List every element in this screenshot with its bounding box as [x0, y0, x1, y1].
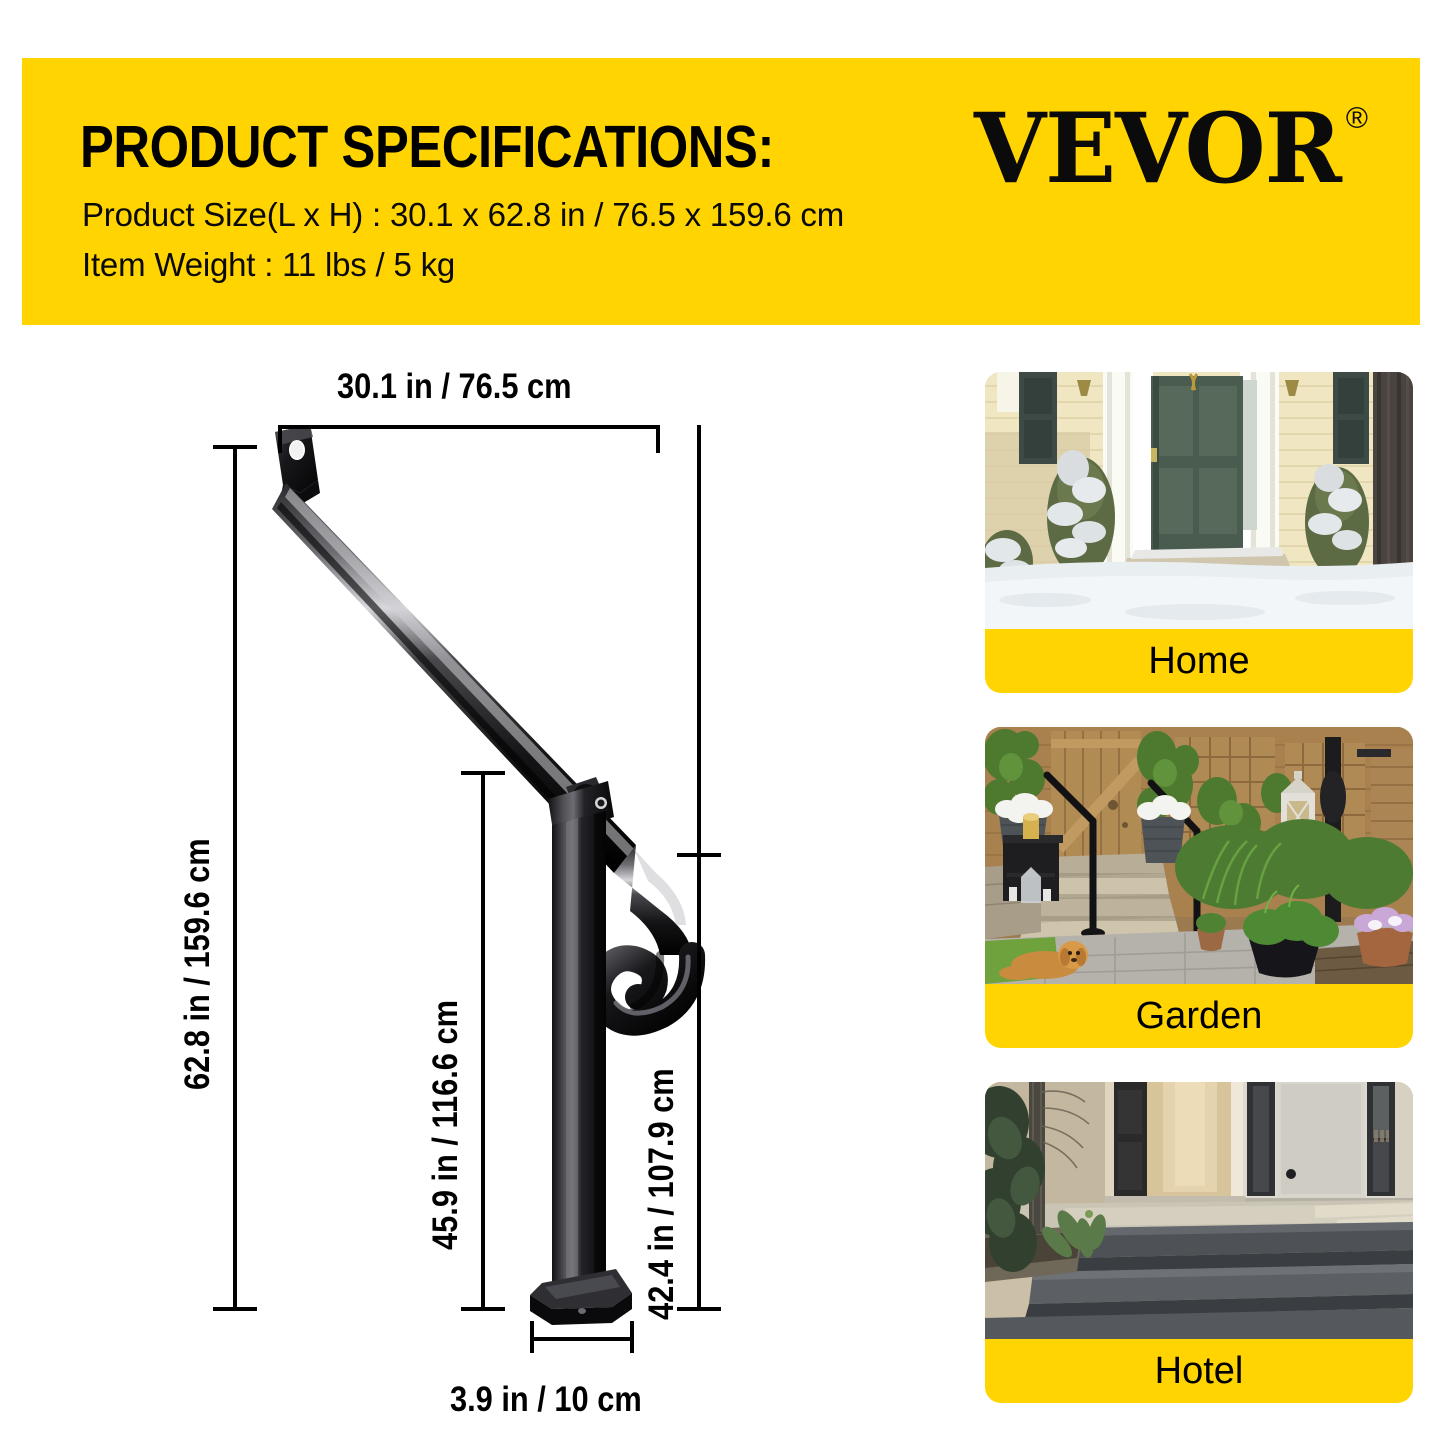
- dim-base-line: [530, 1337, 634, 1341]
- scene-photo-home: [985, 372, 1413, 629]
- dim-top-tick-left: [278, 425, 282, 453]
- scene-card-home[interactable]: Home: [985, 372, 1413, 693]
- dim-overall-line: [233, 445, 237, 1311]
- handrail-illustration: [0, 325, 930, 1445]
- dim-overall-tick-top: [213, 445, 257, 449]
- dim-base-tick-left: [530, 1321, 534, 1353]
- scene-label-garden: Garden: [985, 984, 1413, 1048]
- handrail-lower-section: [614, 845, 692, 955]
- scene-label-hotel: Hotel: [985, 1339, 1413, 1403]
- dim-label-width-top: 30.1 in / 76.5 cm: [337, 367, 572, 407]
- dim-post-tick-bottom: [461, 1307, 505, 1311]
- dim-base-tick-right: [630, 1321, 634, 1353]
- scene-label-home: Home: [985, 629, 1413, 693]
- handrail-post: [552, 811, 606, 1297]
- product-size-text: Product Size(L x H) : 30.1 x 62.8 in / 7…: [82, 196, 844, 234]
- page-title: PRODUCT SPECIFICATIONS:: [80, 113, 774, 181]
- application-scenes: Home: [963, 0, 1445, 1445]
- dim-railend-tick-mid: [677, 853, 721, 857]
- dim-label-base-width: 3.9 in / 10 cm: [450, 1380, 642, 1420]
- scene-card-hotel[interactable]: Hotel: [985, 1082, 1413, 1403]
- dim-overall-tick-bottom: [213, 1307, 257, 1311]
- dim-railend-tick-bottom: [677, 1307, 721, 1311]
- scene-card-garden[interactable]: Garden: [985, 727, 1413, 1048]
- dim-top-line: [278, 425, 660, 429]
- dim-post-line: [481, 771, 485, 1311]
- scene-photo-hotel: [985, 1082, 1413, 1339]
- product-diagram: 30.1 in / 76.5 cm 62.8 in / 159.6 cm 45.…: [0, 325, 930, 1445]
- scene-photo-garden: [985, 727, 1413, 984]
- dim-railend-line: [697, 425, 701, 1311]
- dim-top-tick-right: [656, 425, 660, 453]
- scroll-end-icon: [598, 955, 692, 1023]
- dim-label-height-post: 45.9 in / 116.6 cm: [426, 1000, 466, 1250]
- dim-label-height-railend: 42.4 in / 107.9 cm: [642, 1068, 682, 1320]
- item-weight-text: Item Weight : 11 lbs / 5 kg: [82, 246, 455, 284]
- post-base-plate: [530, 1269, 632, 1325]
- dim-label-height-overall: 62.8 in / 159.6 cm: [178, 838, 218, 1090]
- dim-post-tick-top: [461, 771, 505, 775]
